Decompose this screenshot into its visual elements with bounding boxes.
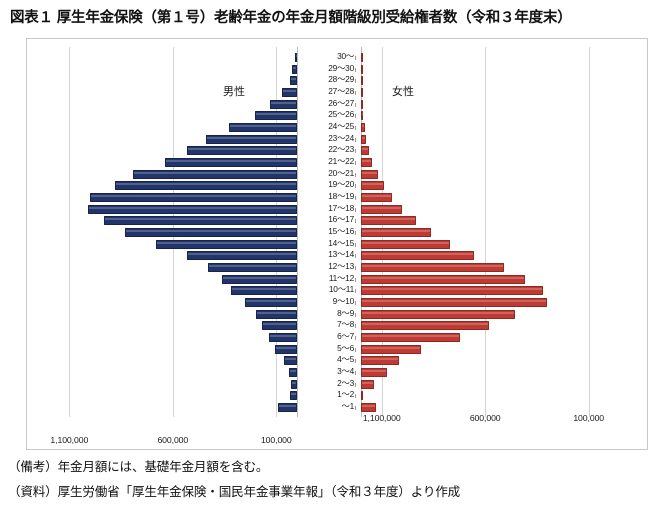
bar-male <box>104 216 297 225</box>
axis-tick <box>355 359 356 363</box>
plot-area: 男性 女性 30〜29〜3028〜2927〜2826〜2725〜2624〜252… <box>27 39 647 449</box>
bar-female <box>361 310 515 319</box>
x-axis-label-right: 600,000 <box>450 413 520 423</box>
bar-female <box>361 286 543 295</box>
category-label: 23〜24 <box>300 133 354 145</box>
category-label: 10〜11 <box>300 284 354 296</box>
bar-male <box>275 345 297 354</box>
category-label: 11〜12 <box>300 273 354 285</box>
bar-female <box>361 193 392 202</box>
axis-tick <box>355 371 356 375</box>
axis-tick <box>355 56 356 60</box>
bar-male <box>208 263 297 272</box>
bar-female <box>361 368 387 377</box>
figure-container: 図表１ 厚生年金保険（第１号）老齢年金の年金月額階級別受給権者数（令和３年度末）… <box>0 0 656 511</box>
x-axis-label-right: 100,000 <box>554 413 624 423</box>
bar-female <box>361 333 460 342</box>
figure-title: 図表１ 厚生年金保険（第１号）老齢年金の年金月額階級別受給権者数（令和３年度末） <box>10 6 650 27</box>
axis-tick <box>355 91 356 95</box>
bar-male <box>269 333 297 342</box>
axis-tick <box>355 301 356 305</box>
bar-male <box>256 310 297 319</box>
bar-male <box>270 100 297 109</box>
axis-tick <box>355 231 356 235</box>
category-label: 2〜3 <box>300 378 354 390</box>
x-axis-label-left: 1,100,000 <box>34 435 104 445</box>
category-label: 21〜22 <box>300 156 354 168</box>
category-label: 〜1 <box>300 401 354 413</box>
axis-tick <box>355 208 356 212</box>
bar-male <box>290 76 297 85</box>
chart-frame: 男性 女性 30〜29〜3028〜2927〜2826〜2725〜2624〜252… <box>26 38 648 450</box>
axis-tick <box>355 68 356 72</box>
bar-male <box>278 403 297 412</box>
bar-male <box>231 286 297 295</box>
bar-female <box>361 356 399 365</box>
category-label: 20〜21 <box>300 168 354 180</box>
bar-female <box>361 380 374 389</box>
bar-male <box>295 53 297 62</box>
category-label: 18〜19 <box>300 191 354 203</box>
bar-female <box>361 146 369 155</box>
axis-tick <box>355 406 356 410</box>
bar-female <box>361 298 547 307</box>
category-label: 17〜18 <box>300 203 354 215</box>
category-label: 8〜9 <box>300 308 354 320</box>
bar-female <box>361 275 525 284</box>
axis-tick <box>355 278 356 282</box>
bar-male <box>245 298 297 307</box>
axis-tick <box>355 126 356 130</box>
axis-tick <box>355 173 356 177</box>
bar-male <box>133 170 297 179</box>
bar-male <box>165 158 297 167</box>
axis-tick <box>355 161 356 165</box>
category-label: 15〜16 <box>300 226 354 238</box>
bar-female <box>361 263 504 272</box>
axis-tick <box>355 324 356 328</box>
bar-female <box>361 403 376 412</box>
bar-female <box>361 205 402 214</box>
bar-female <box>361 321 489 330</box>
bar-male <box>187 251 297 260</box>
bar-female <box>361 53 363 62</box>
bar-female <box>361 181 384 190</box>
x-axis-label-left: 600,000 <box>138 435 208 445</box>
category-label: 26〜27 <box>300 98 354 110</box>
axis-tick <box>355 348 356 352</box>
bar-female <box>361 228 431 237</box>
category-label: 30〜 <box>300 51 354 63</box>
category-label: 25〜26 <box>300 109 354 121</box>
bar-male <box>255 111 297 120</box>
category-label: 29〜30 <box>300 63 354 75</box>
bar-female <box>361 100 363 109</box>
bar-male <box>90 193 297 202</box>
bar-male <box>262 321 297 330</box>
axis-tick <box>355 289 356 293</box>
category-label: 1〜2 <box>300 389 354 401</box>
category-label: 12〜13 <box>300 261 354 273</box>
bar-male <box>284 356 297 365</box>
category-label: 9〜10 <box>300 296 354 308</box>
category-label: 6〜7 <box>300 331 354 343</box>
axis-tick <box>355 243 356 247</box>
bar-female <box>361 65 363 74</box>
note-source: （資料）厚生労働省「厚生年金保険・国民年金事業年報」（令和３年度）より作成 <box>8 481 460 500</box>
axis-tick <box>355 149 356 153</box>
category-label: 16〜17 <box>300 214 354 226</box>
axis-tick <box>355 336 356 340</box>
bar-male <box>222 275 297 284</box>
bar-male <box>292 65 297 74</box>
axis-tick <box>355 103 356 107</box>
category-label: 3〜4 <box>300 366 354 378</box>
bar-male <box>282 88 297 97</box>
bar-female <box>361 158 372 167</box>
bar-female <box>361 391 363 400</box>
bar-male <box>229 123 297 132</box>
bar-male <box>115 181 297 190</box>
note-remarks: （備考）年金月額には、基礎年金月額を含む。 <box>8 456 268 475</box>
category-label: 24〜25 <box>300 121 354 133</box>
bar-female <box>361 251 474 260</box>
axis-tick <box>355 79 356 83</box>
bar-male <box>206 135 297 144</box>
category-label: 28〜29 <box>300 74 354 86</box>
bar-female <box>361 76 363 85</box>
bar-male <box>156 240 297 249</box>
axis-tick <box>355 313 356 317</box>
category-label: 22〜23 <box>300 144 354 156</box>
category-label: 5〜6 <box>300 343 354 355</box>
axis-tick <box>355 184 356 188</box>
axis-tick <box>355 219 356 223</box>
bar-female <box>361 123 365 132</box>
bar-female <box>361 240 450 249</box>
bar-male <box>290 391 297 400</box>
bar-male <box>289 368 297 377</box>
bar-female <box>361 111 363 120</box>
bar-female <box>361 345 421 354</box>
category-label: 27〜28 <box>300 86 354 98</box>
bar-female <box>361 216 416 225</box>
x-axis-label-right: 1,100,000 <box>347 413 417 423</box>
axis-tick <box>355 394 356 398</box>
axis-tick <box>355 196 356 200</box>
category-label: 7〜8 <box>300 319 354 331</box>
category-label: 14〜15 <box>300 238 354 250</box>
category-label: 19〜20 <box>300 179 354 191</box>
bar-rows: 30〜29〜3028〜2927〜2826〜2725〜2624〜2523〜2422… <box>27 52 647 414</box>
category-label: 4〜5 <box>300 354 354 366</box>
x-axis-label-left: 100,000 <box>241 435 311 445</box>
axis-tick <box>355 138 356 142</box>
bar-male <box>125 228 297 237</box>
bar-female <box>361 88 363 97</box>
axis-tick <box>355 266 356 270</box>
bar-male <box>88 205 297 214</box>
axis-tick <box>355 383 356 387</box>
bar-female <box>361 170 378 179</box>
axis-tick <box>355 254 356 258</box>
axis-tick <box>355 114 356 118</box>
bar-male <box>187 146 297 155</box>
bar-male <box>291 380 297 389</box>
category-label: 13〜14 <box>300 249 354 261</box>
bar-female <box>361 135 366 144</box>
